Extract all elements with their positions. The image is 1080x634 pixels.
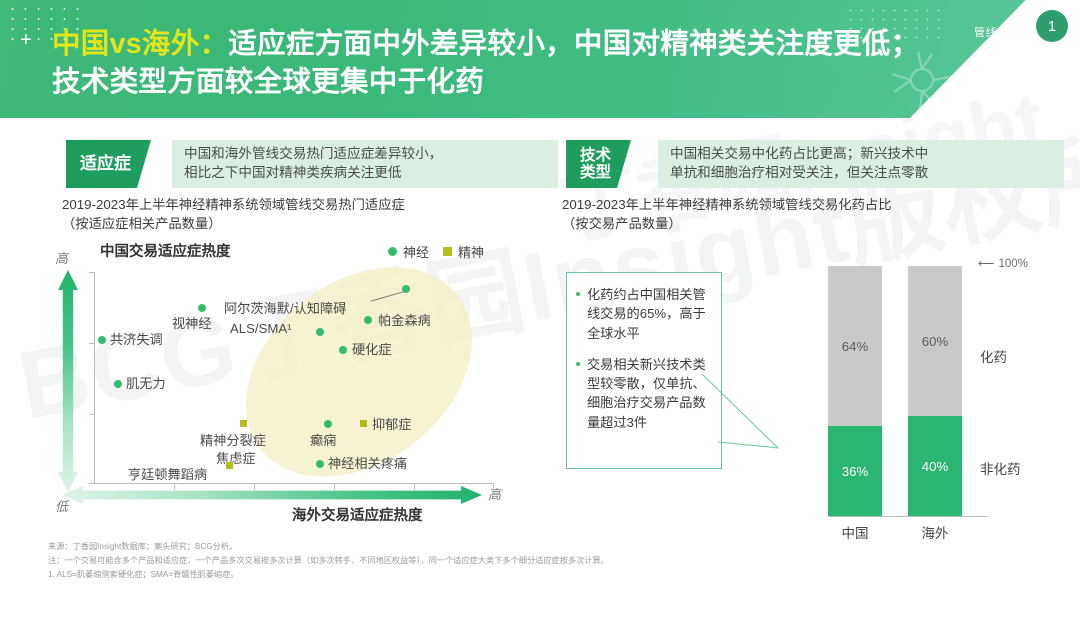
- scatter-point: [360, 420, 367, 427]
- scatter-point-label: 视神经: [172, 313, 212, 332]
- page-title-accent: 中国vs海外：: [52, 28, 228, 60]
- x-axis-line: [94, 483, 494, 484]
- legend-square-marker-icon: [443, 247, 452, 256]
- bar-segment-nonchemical: 40%: [908, 416, 962, 516]
- right-banner-chip: 技术 类型: [566, 140, 631, 188]
- left-panel-subtitle: 2019-2023年上半年神经精神系统领域管线交易热门适应症 （按适应症相关产品…: [62, 196, 542, 234]
- x-axis-high-label: 高: [488, 484, 501, 503]
- y-tick: [89, 343, 95, 344]
- bar-category-label: 中国: [828, 522, 882, 542]
- bar-series-label-chemical: 化药: [980, 346, 1007, 366]
- insight-callout-box: 化药约占中国相关管线交易的65%，高于全球水平 交易相关新兴技术类型较零散，仅单…: [566, 272, 722, 469]
- y-tick: [89, 483, 95, 484]
- scatter-legend: 神经 精神: [388, 242, 484, 261]
- slide-root: + 中国vs海外：适应症方面中外差异较小，中国对精神类关注度更低；技术类型方面较…: [0, 0, 1080, 608]
- legend-circle-marker-icon: [388, 247, 397, 256]
- hundred-percent-annotation: ⟵100%: [978, 256, 1028, 270]
- scatter-point: [364, 316, 372, 324]
- scatter-point: [316, 328, 324, 336]
- x-axis-title: 海外交易适应症热度: [292, 504, 423, 525]
- scatter-point-label: 神经相关疼痛: [328, 453, 407, 472]
- bar-series-label-nonchemical: 非化药: [980, 458, 1021, 478]
- plus-icon: +: [20, 30, 32, 50]
- horizontal-gradient-arrow-icon: [62, 486, 482, 504]
- y-tick: [89, 272, 95, 273]
- bar-baseline: [828, 516, 988, 517]
- x-tick: [334, 484, 335, 490]
- footer-abbrev: 1. ALS=肌萎缩侧索硬化症；SMA=脊髓性肌萎缩症。: [48, 568, 1048, 582]
- y-tick: [89, 414, 95, 415]
- left-banner-chip: 适应症: [66, 140, 151, 188]
- scatter-point: [226, 462, 233, 469]
- scatter-point-label: 阿尔茨海默/认知障碍: [224, 298, 346, 317]
- scatter-point: [240, 420, 247, 427]
- page-number-badge: 1: [1036, 10, 1068, 42]
- callout-list: 化药约占中国相关管线交易的65%，高于全球水平 交易相关新兴技术类型较零散，仅单…: [567, 273, 721, 432]
- right-panel-banner: 技术 类型 中国相关交易中化药占比更高；新兴技术中 单抗和细胞治疗相对受关注，但…: [566, 140, 1044, 188]
- legend-item-psych: 精神: [443, 242, 484, 261]
- bar-segment-chemical: 60%: [908, 266, 962, 416]
- left-arrow-icon: ⟵: [978, 256, 995, 270]
- scatter-point: [339, 346, 347, 354]
- scatter-point-label: 硬化症: [352, 339, 392, 358]
- left-panel-banner: 适应症 中国和海外管线交易热门适应症差异较小， 相比之下中国对精神类疾病关注更低: [66, 140, 538, 188]
- scatter-point-label: ALS/SMA¹: [230, 321, 292, 336]
- y-axis-high-label: 高: [55, 248, 68, 267]
- y-axis-low-label: 低: [55, 496, 68, 515]
- footer-note: 注：一个交易可能含多个产品和适应症，一个产品多次交易按多次计算（如多次转手、不同…: [48, 554, 1048, 568]
- footer-source: 来源：丁香园Insight数据库；案头研究；BCG分析。: [48, 540, 1048, 554]
- category-tag: 管线交易: [974, 24, 1020, 40]
- bar-category-label: 海外: [908, 522, 962, 542]
- scatter-point: [98, 336, 106, 344]
- x-tick: [254, 484, 255, 490]
- scatter-chart: 中国交易适应症热度 神经 精神 高 低 高 海外交易适应症热度: [48, 240, 558, 535]
- scatter-point-label: 亨廷顿舞蹈病: [128, 464, 207, 483]
- scatter-point: [198, 304, 206, 312]
- scatter-point-label: 帕金森病: [378, 310, 431, 329]
- page-title: 中国vs海外：适应症方面中外差异较小，中国对精神类关注度更低；技术类型方面较全球…: [52, 26, 932, 102]
- scatter-point-label: 癫痫: [310, 430, 336, 449]
- x-tick: [493, 484, 494, 490]
- scatter-point-label: 精神分裂症: [200, 430, 266, 449]
- scatter-point-label: 焦虑症: [216, 448, 256, 467]
- callout-pointer-tail: [700, 372, 820, 472]
- callout-item: 交易相关新兴技术类型较零散，仅单抗、细胞治疗交易产品数量超过3件: [587, 355, 711, 432]
- vertical-gradient-arrow-icon: [58, 270, 78, 492]
- scatter-point-label: 抑郁症: [372, 414, 412, 433]
- bar-segment-chemical: 64%: [828, 266, 882, 426]
- callout-item: 化药约占中国相关管线交易的65%，高于全球水平: [587, 285, 711, 343]
- scatter-point-label: 共济失调: [110, 329, 163, 348]
- scatter-plot-area: 视神经 共济失调 肌无力 阿尔茨海默/认知障碍 帕金森病 ALS/SMA¹ 硬化…: [94, 272, 494, 484]
- right-banner-text: 中国相关交易中化药占比更高；新兴技术中 单抗和细胞治疗相对受关注，但关注点零散: [658, 140, 1064, 188]
- scatter-chart-title: 中国交易适应症热度: [100, 240, 231, 261]
- scatter-point: [324, 420, 332, 428]
- scatter-point: [114, 380, 122, 388]
- y-axis-line: [94, 272, 95, 484]
- bar-segment-nonchemical: 36%: [828, 426, 882, 516]
- x-tick: [174, 484, 175, 490]
- legend-label-psych: 精神: [458, 242, 484, 261]
- right-panel-subtitle: 2019-2023年上半年神经精神系统领域管线交易化药占比 （按交易产品数量）: [562, 196, 1042, 234]
- legend-label-neuro: 神经: [403, 242, 429, 261]
- x-tick: [414, 484, 415, 490]
- highlight-ellipse: [205, 224, 513, 520]
- slide-header: + 中国vs海外：适应症方面中外差异较小，中国对精神类关注度更低；技术类型方面较…: [0, 0, 1080, 118]
- scatter-point: [316, 460, 324, 468]
- footer-notes: 来源：丁香园Insight数据库；案头研究；BCG分析。 注：一个交易可能含多个…: [48, 540, 1048, 582]
- left-banner-text: 中国和海外管线交易热门适应症差异较小， 相比之下中国对精神类疾病关注更低: [172, 140, 558, 188]
- scatter-point-label: 肌无力: [126, 373, 166, 392]
- stacked-bar-chart: ⟵100% 64% 36% 中国 60% 40% 海外 化药 非化药: [828, 266, 1078, 536]
- legend-item-neuro: 神经: [388, 242, 429, 261]
